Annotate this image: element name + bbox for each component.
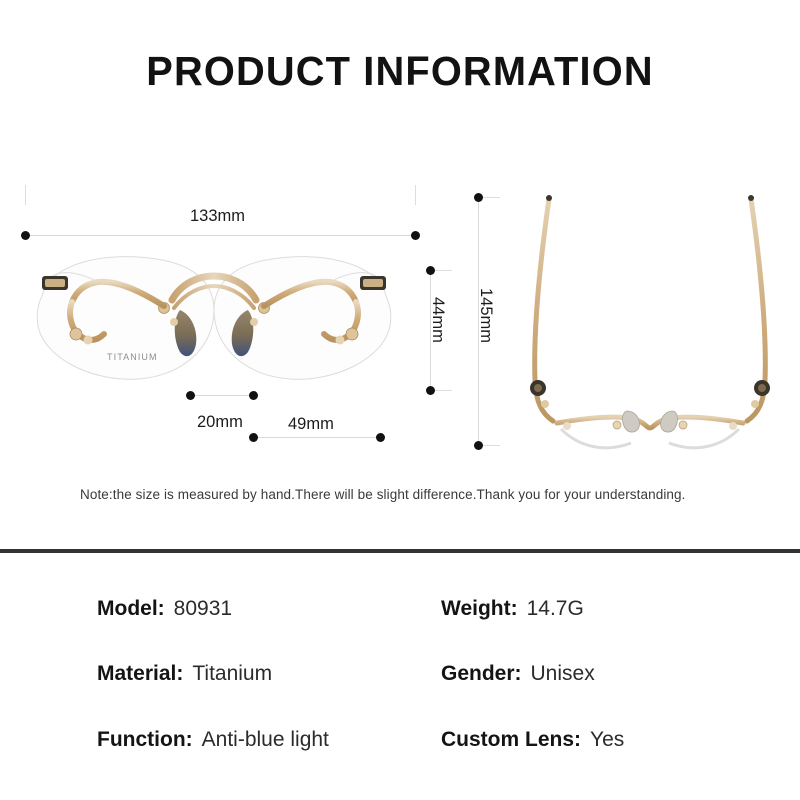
product-information-page: PRODUCT INFORMATION 133mm <box>0 0 800 800</box>
dim-line-133 <box>25 235 415 236</box>
dim-dot-44-bottom <box>426 386 435 395</box>
specifications-table: Model: 80931 Material: Titanium Function… <box>0 580 800 780</box>
dim-line-20 <box>190 395 253 396</box>
hinge-ornament-right <box>754 380 770 396</box>
glasses-top-view <box>505 185 795 460</box>
dim-tick-133-left <box>25 185 26 205</box>
spec-label-function: Function: <box>97 728 193 752</box>
glasses-front-view: TITANIUM <box>14 248 414 393</box>
spec-label-material: Material: <box>97 662 183 686</box>
spec-value-custom-lens: Yes <box>590 728 624 752</box>
dim-tick-133-right <box>415 185 416 205</box>
page-title: PRODUCT INFORMATION <box>12 48 788 95</box>
dim-label-bridge: 20mm <box>197 413 243 432</box>
spec-value-weight: 14.7G <box>527 597 584 621</box>
spec-label-weight: Weight: <box>441 597 518 621</box>
dim-dot-145-bottom <box>474 441 483 450</box>
spec-label-gender: Gender: <box>441 662 522 686</box>
dim-dot-133-right <box>411 231 420 240</box>
spec-row-material: Material: Titanium <box>97 662 272 686</box>
dim-dot-44-top <box>426 266 435 275</box>
dim-dot-49-left <box>249 433 258 442</box>
section-divider <box>0 549 800 553</box>
spec-row-gender: Gender: Unisex <box>441 662 595 686</box>
dim-dot-20-right <box>249 391 258 400</box>
spec-label-model: Model: <box>97 597 165 621</box>
dim-label-temple-length: 145mm <box>476 288 495 343</box>
spec-row-custom-lens: Custom Lens: Yes <box>441 728 624 752</box>
spec-value-function: Anti-blue light <box>202 728 329 752</box>
spec-row-function: Function: Anti-blue light <box>97 728 329 752</box>
spec-label-custom-lens: Custom Lens: <box>441 728 581 752</box>
dim-label-lens-width: 49mm <box>288 415 334 434</box>
spec-value-gender: Unisex <box>531 662 595 686</box>
dim-label-width: 133mm <box>190 207 245 226</box>
dim-dot-49-right <box>376 433 385 442</box>
measurement-note: Note:the size is measured by hand.There … <box>80 487 740 502</box>
lens-etch-label: TITANIUM <box>107 352 158 362</box>
dim-label-lens-height: 44mm <box>428 297 447 343</box>
dim-dot-145-top <box>474 193 483 202</box>
dim-line-49 <box>253 437 380 438</box>
dim-dot-20-left <box>186 391 195 400</box>
spec-row-model: Model: 80931 <box>97 597 232 621</box>
dimension-diagram: 133mm <box>0 170 800 470</box>
dim-dot-133-left <box>21 231 30 240</box>
spec-row-weight: Weight: 14.7G <box>441 597 584 621</box>
spec-value-model: 80931 <box>174 597 232 621</box>
hinge-ornament-left <box>530 380 546 396</box>
spec-value-material: Titanium <box>192 662 272 686</box>
